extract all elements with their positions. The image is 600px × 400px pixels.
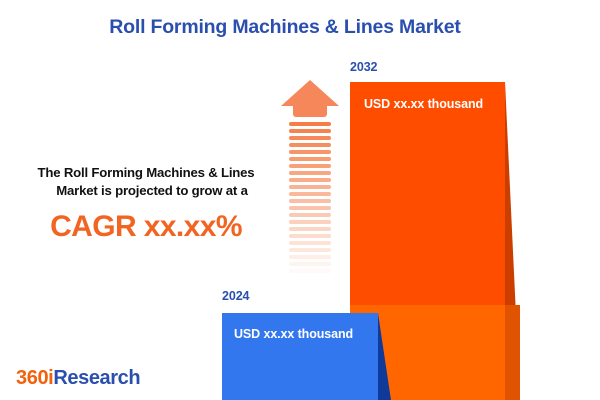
page-title: Roll Forming Machines & Lines Market (0, 16, 570, 39)
caption-line-2: Market is projected to grow at a (24, 182, 280, 200)
arrow-segment (289, 241, 331, 245)
arrow-segment (289, 136, 331, 140)
arrow-segment (289, 220, 331, 224)
arrow-segment (289, 185, 331, 189)
arrow-segment (289, 199, 331, 203)
arrow-segment (289, 150, 331, 154)
arrow-segment (289, 248, 331, 252)
arrow-shoulder-bar (293, 105, 327, 117)
arrow-head-icon (281, 80, 339, 106)
arrow-segment (289, 129, 331, 133)
arrow-segment-stack (289, 122, 331, 292)
infographic-canvas: Roll Forming Machines & Lines Market The… (0, 0, 600, 400)
logo-text-research: Research (53, 367, 140, 389)
logo-text-360i: 360i (16, 367, 53, 389)
brand-logo: 360iResearch (16, 367, 140, 390)
arrow-segment (289, 192, 331, 196)
arrow-segment (289, 157, 331, 161)
bar-value-2032: USD xx.xx thousand (364, 97, 483, 111)
bar-value-2024: USD xx.xx thousand (234, 327, 353, 341)
growth-arrow-icon (281, 80, 339, 292)
caption-line-1: The Roll Forming Machines & Lines (12, 164, 280, 182)
bar-label-2032: 2032 (350, 60, 377, 74)
arrow-segment (289, 227, 331, 231)
arrow-segment (289, 283, 331, 287)
arrow-segment (289, 143, 331, 147)
cagr-value: CAGR xx.xx% (12, 210, 280, 244)
arrow-segment (289, 206, 331, 210)
arrow-segment (289, 171, 331, 175)
cagr-caption-block: The Roll Forming Machines & Lines Market… (12, 164, 280, 244)
arrow-segment (289, 269, 331, 273)
arrow-segment (289, 276, 331, 280)
arrow-segment (289, 213, 331, 217)
arrow-segment (289, 234, 331, 238)
arrow-segment (289, 164, 331, 168)
arrow-segment (289, 178, 331, 182)
arrow-segment (289, 262, 331, 266)
arrow-segment (289, 122, 331, 126)
bar-label-2024: 2024 (222, 289, 249, 303)
arrow-segment (289, 255, 331, 259)
bar-2032-side-face-lower (505, 305, 520, 400)
